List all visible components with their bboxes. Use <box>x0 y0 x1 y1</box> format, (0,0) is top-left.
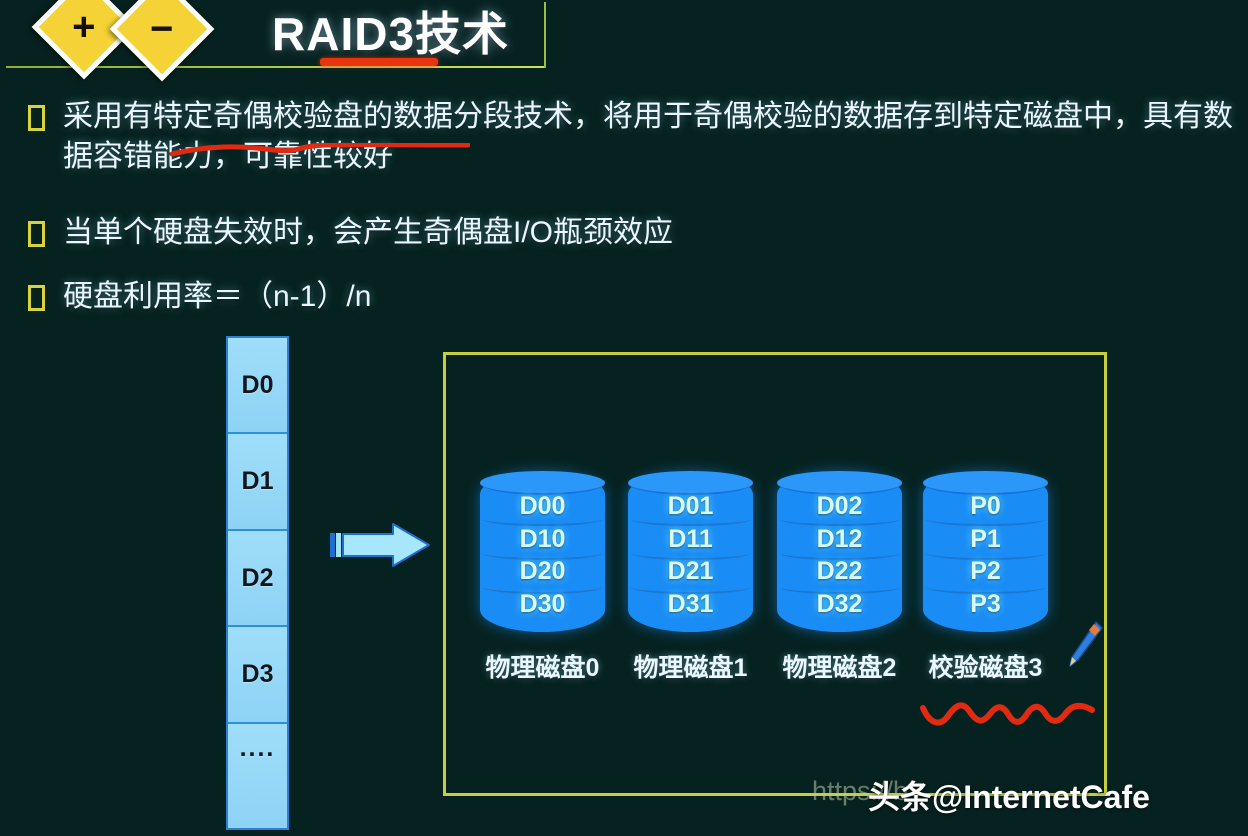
disk-caption: 物理磁盘1 <box>628 648 753 684</box>
bullet-marker-icon <box>28 285 45 311</box>
disk-0: D00 D10 D20 D30 物理磁盘0 <box>480 472 605 642</box>
slide-canvas: + − RAID3技术 采用有特定奇偶校验盘的数据分段技术，将用于奇偶校验的数据… <box>0 0 1248 836</box>
bullet-text-1: 采用有特定奇偶校验盘的数据分段技术，将用于奇偶校验的数据存到特定磁盘中，具有数据… <box>63 97 1243 177</box>
cylinder-icon: D02 D12 D22 D32 <box>777 472 902 632</box>
disk-caption: 校验磁盘3 <box>923 648 1048 684</box>
channel-watermark: 头条@InternetCafe <box>868 772 1150 818</box>
disk-block: D01 <box>668 490 714 523</box>
disk-block: D12 <box>817 523 863 556</box>
disk-caption: 物理磁盘0 <box>480 648 605 684</box>
cylinder-icon: D00 D10 D20 D30 <box>480 472 605 632</box>
bullet-marker-icon <box>28 105 45 131</box>
bullet-item-1: 采用有特定奇偶校验盘的数据分段技术，将用于奇偶校验的数据存到特定磁盘中，具有数据… <box>28 97 1243 177</box>
disk-block: D30 <box>520 588 566 621</box>
bullet-item-3: 硬盘利用率＝（n-1）/n <box>28 277 371 317</box>
disk-1: D01 D11 D21 D31 物理磁盘1 <box>628 472 753 642</box>
disk-block: D02 <box>817 490 863 523</box>
title-underline-annotation <box>320 58 438 66</box>
disk-block: D11 <box>668 523 712 556</box>
right-arrow-icon <box>330 521 432 569</box>
disk-array: D00 D10 D20 D30 物理磁盘0 D01 D11 D21 D31 <box>480 472 1080 702</box>
bullet-item-2: 当单个硬盘失效时，会产生奇偶盘I/O瓶颈效应 <box>28 213 673 253</box>
red-squiggle-annotation-2 <box>920 694 1095 730</box>
disk-2: D02 D12 D22 D32 物理磁盘2 <box>777 472 902 642</box>
pencil-cursor-icon <box>1064 620 1104 670</box>
cylinder-icon: P0 P1 P2 P3 <box>923 472 1048 632</box>
bullet-text-3: 硬盘利用率＝（n-1）/n <box>63 277 371 317</box>
disk-block: D10 <box>520 523 566 556</box>
data-cell: D1 <box>228 434 287 530</box>
disk-block: D32 <box>817 588 863 621</box>
disk-block: P2 <box>970 555 1001 588</box>
disk-block: P3 <box>970 588 1001 621</box>
data-cell: .... <box>228 724 287 828</box>
bullet-text-2: 当单个硬盘失效时，会产生奇偶盘I/O瓶颈效应 <box>63 213 673 253</box>
source-data-column: D0 D1 D2 D3 .... <box>226 336 289 830</box>
data-cell: D0 <box>228 338 287 434</box>
disk-block: D21 <box>668 555 714 588</box>
cylinder-icon: D01 D11 D21 D31 <box>628 472 753 632</box>
red-underline-annotation-1 <box>170 143 470 157</box>
data-cell: D2 <box>228 531 287 627</box>
bullet-marker-icon <box>28 221 45 247</box>
disk-block: D22 <box>817 555 863 588</box>
disk-3-parity: P0 P1 P2 P3 校验磁盘3 <box>923 472 1048 642</box>
disk-block: D20 <box>520 555 566 588</box>
disk-block: D31 <box>668 588 714 621</box>
page-title: RAID3技术 <box>272 0 509 64</box>
plus-badge-label: + <box>72 7 95 47</box>
disk-block: P1 <box>970 523 1001 556</box>
minus-badge-label: − <box>150 9 173 49</box>
disk-caption: 物理磁盘2 <box>777 648 902 684</box>
disk-block: P0 <box>970 490 1001 523</box>
data-cell: D3 <box>228 627 287 723</box>
disk-block: D00 <box>520 490 566 523</box>
